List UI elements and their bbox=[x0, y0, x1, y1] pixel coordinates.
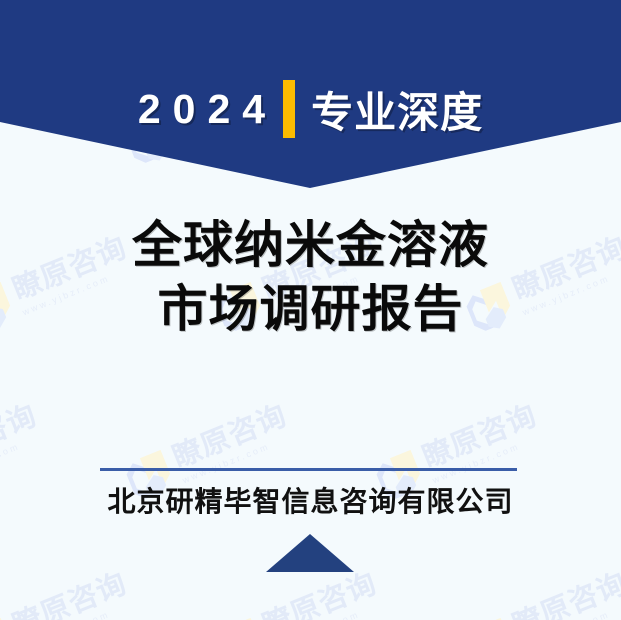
header-title-row: 2024 专业深度 bbox=[0, 80, 621, 138]
watermark-brand: 瞭原咨询 bbox=[419, 401, 541, 473]
title-divider bbox=[100, 468, 517, 471]
watermark-url: www.yjbzr.com bbox=[431, 432, 546, 485]
watermark-text: 瞭原咨询www.yjbzr.com bbox=[509, 569, 621, 620]
watermark-text: 瞭原咨询www.yjbzr.com bbox=[9, 569, 136, 620]
watermark-tile: 瞭原咨询www.yjbzr.com bbox=[210, 568, 387, 620]
yuanzhi-logo-icon bbox=[0, 615, 20, 620]
header-tagline: 专业深度 bbox=[311, 79, 483, 140]
watermark-url: www.yjbzr.com bbox=[181, 432, 296, 485]
watermark-text: 瞭原咨询www.yjbzr.com bbox=[419, 401, 546, 485]
watermark-url: www.yjbzr.com bbox=[0, 432, 46, 485]
page-title-line-2: 市场调研报告 bbox=[0, 277, 621, 341]
yuanzhi-logo-icon bbox=[460, 615, 520, 620]
watermark-brand: 瞭原咨询 bbox=[9, 569, 131, 620]
publisher-name: 北京研精毕智信息咨询有限公司 bbox=[0, 480, 621, 520]
watermark-brand: 瞭原咨询 bbox=[509, 569, 621, 620]
page-title-line-1: 全球纳米金溶液 bbox=[0, 213, 621, 277]
watermark-tile: 瞭原咨询www.yjbzr.com bbox=[0, 568, 137, 620]
watermark-brand: 瞭原咨询 bbox=[169, 401, 291, 473]
vertical-bar-icon bbox=[283, 80, 295, 138]
page-title: 全球纳米金溶液 市场调研报告 bbox=[0, 213, 621, 341]
report-year: 2024 bbox=[138, 86, 279, 133]
yuanzhi-logo-icon bbox=[210, 615, 270, 620]
watermark-brand: 瞭原咨询 bbox=[259, 569, 381, 620]
watermark-tile: 瞭原咨询www.yjbzr.com bbox=[460, 568, 621, 620]
watermark-text: 瞭原咨询www.yjbzr.com bbox=[0, 401, 46, 485]
watermark-brand: 瞭原咨询 bbox=[0, 401, 41, 473]
watermark-url: www.yjbzr.com bbox=[271, 600, 386, 620]
watermark-url: www.yjbzr.com bbox=[521, 600, 621, 620]
watermark-url: www.yjbzr.com bbox=[21, 600, 136, 620]
watermark-text: 瞭原咨询www.yjbzr.com bbox=[259, 569, 386, 620]
watermark-text: 瞭原咨询www.yjbzr.com bbox=[169, 401, 296, 485]
report-cover: 瞭原咨询www.yjbzr.com瞭原咨询www.yjbzr.com瞭原咨询ww… bbox=[0, 0, 621, 620]
up-triangle-icon bbox=[266, 534, 354, 572]
